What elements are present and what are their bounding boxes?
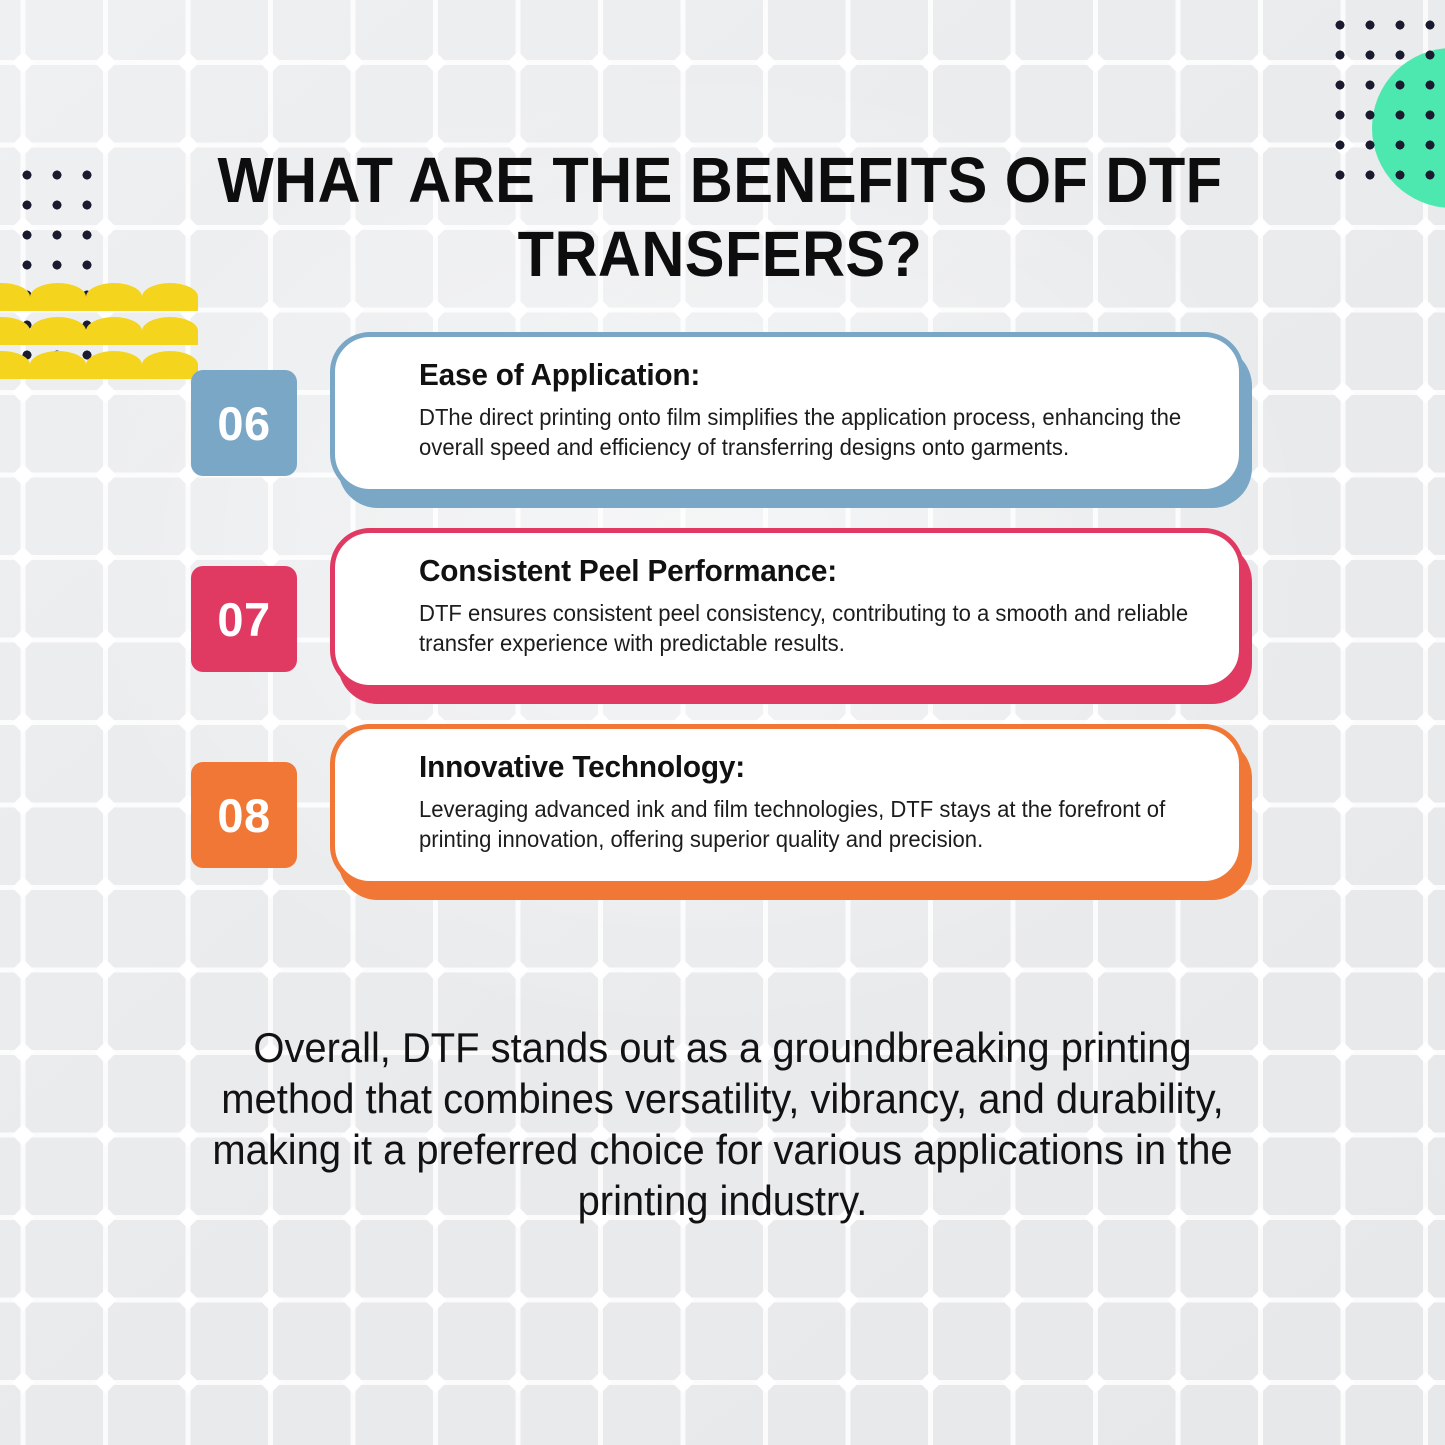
card-body: DTF ensures consistent peel consistency,… <box>419 598 1208 658</box>
card-surface[interactable]: Consistent Peel Performance:DTF ensures … <box>330 528 1244 690</box>
dot-grid-top-right-decoration <box>1325 10 1445 185</box>
card-number-badge-06: 06 <box>191 370 297 476</box>
semicircle-row <box>0 283 198 311</box>
card-number-label: 06 <box>217 396 270 451</box>
benefit-card[interactable]: Ease of Application:DThe direct printing… <box>330 332 1252 508</box>
benefit-card[interactable]: Innovative Technology:Leveraging advance… <box>330 724 1252 900</box>
card-number-label: 07 <box>217 592 270 647</box>
benefit-card-row[interactable]: 06Ease of Application:DThe direct printi… <box>0 332 1445 528</box>
card-surface[interactable]: Ease of Application:DThe direct printing… <box>330 332 1244 494</box>
page-title-line-1: WHAT ARE THE BENEFITS OF DTF <box>218 144 1223 216</box>
page-title: WHAT ARE THE BENEFITS OF DTF TRANSFERS? <box>213 143 1227 291</box>
benefit-card-row[interactable]: 07Consistent Peel Performance:DTF ensure… <box>0 528 1445 724</box>
card-number-badge-08: 08 <box>191 762 297 868</box>
card-body: Leveraging advanced ink and film technol… <box>419 794 1208 854</box>
card-title: Innovative Technology: <box>419 749 1177 785</box>
card-number-label: 08 <box>217 788 270 843</box>
benefit-card[interactable]: Consistent Peel Performance:DTF ensures … <box>330 528 1252 704</box>
closing-paragraph: Overall, DTF stands out as a groundbreak… <box>202 1022 1242 1226</box>
page-title-line-2: TRANSFERS? <box>518 218 923 290</box>
benefit-card-row[interactable]: 08Innovative Technology:Leveraging advan… <box>0 724 1445 920</box>
semicircle <box>86 283 142 311</box>
card-body: DThe direct printing onto film simplifie… <box>419 402 1208 462</box>
semicircle <box>30 283 86 311</box>
semicircle <box>142 283 198 311</box>
semicircle <box>0 283 30 311</box>
card-title: Consistent Peel Performance: <box>419 553 1177 589</box>
card-title: Ease of Application: <box>419 357 1177 393</box>
card-number-badge-07: 07 <box>191 566 297 672</box>
benefit-card-list: 06Ease of Application:DThe direct printi… <box>0 332 1445 920</box>
card-surface[interactable]: Innovative Technology:Leveraging advance… <box>330 724 1244 886</box>
